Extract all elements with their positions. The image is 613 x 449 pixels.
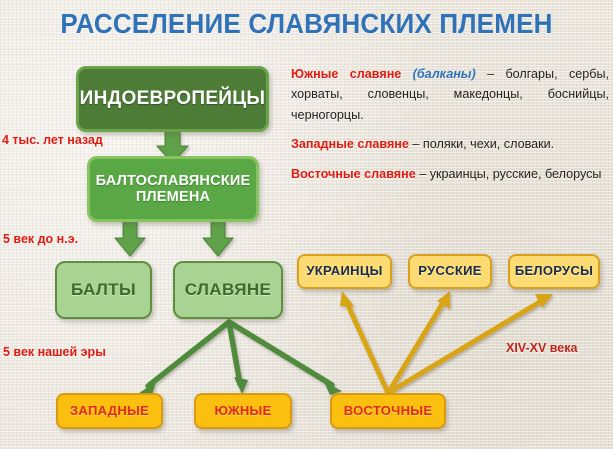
node-indoeuropeans-label: ИНДОЕВРОПЕЙЦЫ — [80, 88, 266, 109]
arrow-slavs-to-western — [139, 322, 229, 395]
description-south-slavs-region: (балканы) — [413, 67, 476, 81]
node-eastern-slavs[interactable]: ВОСТОЧНЫЕ — [330, 393, 446, 429]
node-russians-label: РУССКИЕ — [418, 264, 481, 279]
arrow-eastern-to-ukrainians — [340, 291, 388, 393]
node-western-slavs[interactable]: ЗАПАДНЫЕ — [56, 393, 163, 429]
node-eastern-slavs-label: ВОСТОЧНЫЕ — [344, 404, 433, 419]
node-belarusians[interactable]: БЕЛОРУСЫ — [508, 254, 600, 289]
arrow-eastern-to-russians — [388, 291, 450, 393]
description-west-slavs-lead: Западные славяне — [291, 137, 409, 151]
node-russians[interactable]: РУССКИЕ — [408, 254, 492, 289]
node-ukrainians-label: УКРАИНЦЫ — [306, 264, 382, 279]
description-south-slavs-space — [401, 67, 412, 81]
description-west-slavs: Западные славяне – поляки, чехи, словаки… — [291, 134, 609, 154]
node-balto-slavic-tribes[interactable]: БАЛТОСЛАВЯНСКИЕ ПЛЕМЕНА — [87, 156, 259, 222]
node-western-slavs-label: ЗАПАДНЫЕ — [70, 404, 149, 419]
node-slavs[interactable]: СЛАВЯНЕ — [173, 261, 283, 319]
slide-canvas: РАССЕЛЕНИЕ СЛАВЯНСКИХ ПЛЕМЕН — [0, 0, 613, 449]
arrow-baltoslavic-to-slavs — [203, 221, 233, 256]
node-balts-label: БАЛТЫ — [71, 280, 136, 299]
node-ukrainians[interactable]: УКРАИНЦЫ — [297, 254, 392, 289]
era-label-4000-years-ago: 4 тыс. лет назад — [2, 131, 74, 150]
era-label-14th-15th-centuries: XIV-XV века — [506, 339, 577, 358]
node-southern-slavs[interactable]: ЮЖНЫЕ — [194, 393, 292, 429]
arrow-baltoslavic-to-balts — [115, 221, 145, 256]
node-indoeuropeans[interactable]: ИНДОЕВРОПЕЙЦЫ — [76, 66, 269, 132]
description-south-slavs-lead: Южные славяне — [291, 67, 401, 81]
description-east-slavs: Восточные славяне – украинцы, русские, б… — [291, 164, 609, 184]
description-west-slavs-rest: – поляки, чехи, словаки. — [409, 137, 554, 151]
node-slavs-label: СЛАВЯНЕ — [185, 280, 272, 299]
description-east-slavs-rest: – украинцы, русские, белорусы — [416, 167, 602, 181]
arrow-slavs-to-southern — [229, 322, 248, 394]
era-label-5th-century-bc: 5 век до н.э. — [3, 230, 78, 249]
node-southern-slavs-label: ЮЖНЫЕ — [214, 404, 271, 419]
era-label-5th-century-ad: 5 век нашей эры — [3, 343, 106, 362]
arrow-slavs-to-eastern — [229, 322, 342, 395]
description-panel: Южные славяне (балканы) – болгары, сербы… — [291, 64, 609, 184]
node-balto-slavic-tribes-label: БАЛТОСЛАВЯНСКИЕ ПЛЕМЕНА — [90, 173, 256, 205]
description-east-slavs-lead: Восточные славяне — [291, 167, 416, 181]
node-belarusians-label: БЕЛОРУСЫ — [515, 264, 593, 279]
description-south-slavs: Южные славяне (балканы) – болгары, сербы… — [291, 64, 609, 125]
page-title: РАССЕЛЕНИЕ СЛАВЯНСКИХ ПЛЕМЕН — [21, 8, 591, 40]
node-balts[interactable]: БАЛТЫ — [55, 261, 152, 319]
